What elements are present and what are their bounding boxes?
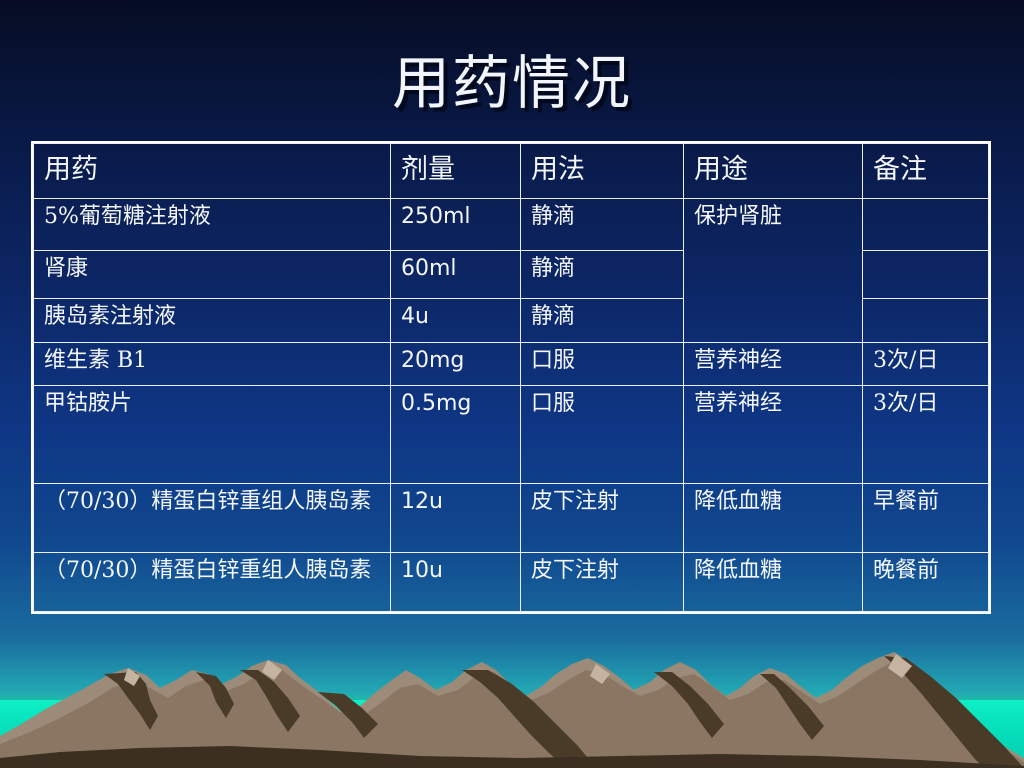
column-header-note: 备注 <box>863 144 989 199</box>
cell-drug: 5%葡萄糖注射液 <box>34 199 391 251</box>
cell-use: 营养神经 <box>684 386 863 484</box>
cell-method: 口服 <box>521 343 684 386</box>
cell-drug: 胰岛素注射液 <box>34 299 391 343</box>
column-header-drug: 用药 <box>34 144 391 199</box>
cell-use: 降低血糖 <box>684 484 863 553</box>
cell-note <box>863 199 989 251</box>
cell-note <box>863 299 989 343</box>
cell-drug: 肾康 <box>34 251 391 299</box>
column-header-dose: 剂量 <box>391 144 521 199</box>
page-title: 用药情况 <box>0 47 1024 119</box>
cell-method: 皮下注射 <box>521 553 684 612</box>
cell-use-merged: 保护肾脏 <box>684 199 863 343</box>
cell-note <box>863 251 989 299</box>
cell-note: 早餐前 <box>863 484 989 553</box>
cell-drug: （70/30）精蛋白锌重组人胰岛素 <box>34 553 391 612</box>
cell-use: 降低血糖 <box>684 553 863 612</box>
cell-drug: （70/30）精蛋白锌重组人胰岛素 <box>34 484 391 553</box>
table-row: 甲钴胺片 0.5mg 口服 营养神经 3次/日 <box>34 386 989 484</box>
cell-note: 晚餐前 <box>863 553 989 612</box>
cell-method: 静滴 <box>521 199 684 251</box>
cell-dose: 12u <box>391 484 521 553</box>
cell-dose: 20mg <box>391 343 521 386</box>
mountain-range-graphic <box>0 640 1024 768</box>
cell-method: 口服 <box>521 386 684 484</box>
cell-dose: 0.5mg <box>391 386 521 484</box>
cell-note: 3次/日 <box>863 386 989 484</box>
table-row: 5%葡萄糖注射液 250ml 静滴 保护肾脏 <box>34 199 989 251</box>
cell-method: 静滴 <box>521 299 684 343</box>
table-row: （70/30）精蛋白锌重组人胰岛素 10u 皮下注射 降低血糖 晚餐前 <box>34 553 989 612</box>
table-header-row: 用药 剂量 用法 用途 备注 <box>34 144 989 199</box>
column-header-method: 用法 <box>521 144 684 199</box>
table-row: 维生素 B1 20mg 口服 营养神经 3次/日 <box>34 343 989 386</box>
cell-dose: 4u <box>391 299 521 343</box>
table-row: （70/30）精蛋白锌重组人胰岛素 12u 皮下注射 降低血糖 早餐前 <box>34 484 989 553</box>
cell-dose: 60ml <box>391 251 521 299</box>
cell-note: 3次/日 <box>863 343 989 386</box>
presentation-slide: 用药情况 用药 剂量 用法 用途 备注 5%葡萄糖注射液 250ml 静滴 保护… <box>0 0 1024 768</box>
cell-drug: 甲钴胺片 <box>34 386 391 484</box>
cell-drug: 维生素 B1 <box>34 343 391 386</box>
medication-table: 用药 剂量 用法 用途 备注 5%葡萄糖注射液 250ml 静滴 保护肾脏 肾康… <box>33 143 989 612</box>
cell-method: 皮下注射 <box>521 484 684 553</box>
cell-dose: 250ml <box>391 199 521 251</box>
cell-use: 营养神经 <box>684 343 863 386</box>
column-header-use: 用途 <box>684 144 863 199</box>
cell-dose: 10u <box>391 553 521 612</box>
cell-method: 静滴 <box>521 251 684 299</box>
